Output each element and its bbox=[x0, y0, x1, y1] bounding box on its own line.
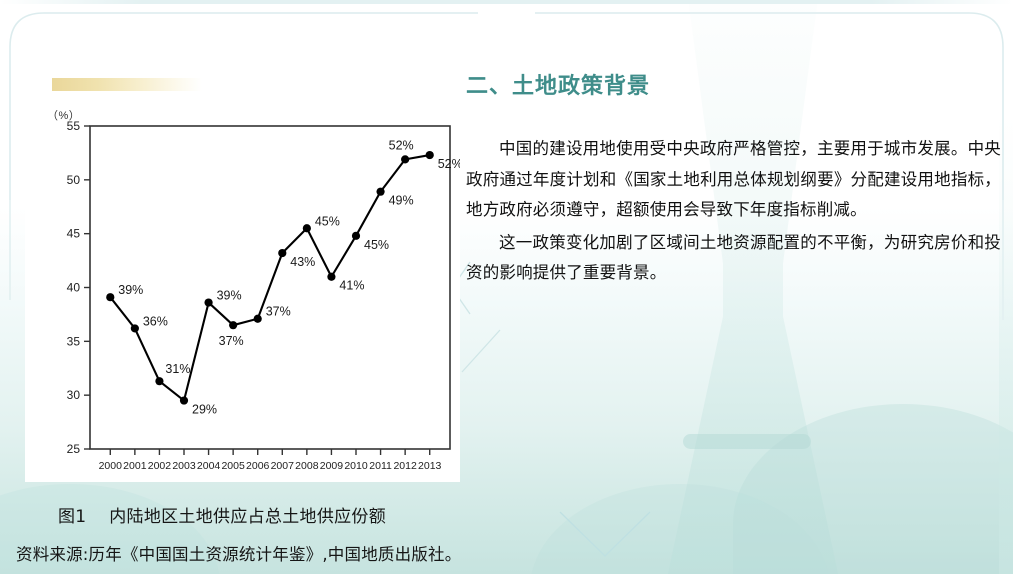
svg-text:45%: 45% bbox=[364, 238, 389, 252]
svg-text:40: 40 bbox=[67, 281, 81, 295]
svg-text:2011: 2011 bbox=[369, 460, 392, 472]
svg-text:37%: 37% bbox=[219, 334, 244, 348]
svg-text:43%: 43% bbox=[290, 255, 315, 269]
svg-text:35: 35 bbox=[67, 334, 81, 348]
svg-text:2002: 2002 bbox=[148, 460, 172, 472]
svg-text:2009: 2009 bbox=[320, 460, 344, 472]
body-paragraph-2: 这一政策变化加剧了区域间土地资源配置的不平衡，为研究房价和投资的影响提供了重要背… bbox=[466, 228, 1001, 289]
svg-text:41%: 41% bbox=[339, 279, 364, 293]
svg-text:45: 45 bbox=[67, 227, 81, 241]
svg-text:30: 30 bbox=[67, 388, 81, 402]
svg-text:2004: 2004 bbox=[197, 460, 221, 472]
source-caption: 资料来源:历年《中国国土资源统计年鉴》,中国地质出版社。 bbox=[16, 541, 461, 565]
svg-text:39%: 39% bbox=[118, 283, 143, 297]
svg-text:2012: 2012 bbox=[393, 460, 417, 472]
svg-text:31%: 31% bbox=[165, 362, 190, 376]
svg-text:39%: 39% bbox=[217, 289, 242, 303]
section-title: 二、土地政策背景 bbox=[466, 68, 1001, 100]
svg-text:55: 55 bbox=[67, 119, 81, 133]
body-paragraph-1: 中国的建设用地使用受中央政府严格管控，主要用于城市发展。中央政府通过年度计划和《… bbox=[466, 134, 1001, 226]
svg-text:2003: 2003 bbox=[172, 460, 196, 472]
svg-text:2006: 2006 bbox=[246, 460, 270, 472]
svg-text:2013: 2013 bbox=[418, 460, 442, 472]
svg-text:29%: 29% bbox=[192, 403, 217, 417]
svg-text:25: 25 bbox=[67, 442, 81, 456]
figure-chart-card: （%） 253035404550552000200120022003200420… bbox=[25, 32, 460, 482]
svg-text:2001: 2001 bbox=[123, 460, 147, 472]
text-column: 二、土地政策背景 中国的建设用地使用受中央政府严格管控，主要用于城市发展。中央政… bbox=[466, 68, 1001, 289]
slide-canvas: （%） 253035404550552000200120022003200420… bbox=[0, 0, 1013, 574]
background-hill-middle bbox=[530, 484, 830, 574]
top-accent-strip bbox=[0, 0, 1013, 4]
background-bar-shape bbox=[683, 434, 811, 449]
background-right-edge-wash bbox=[999, 0, 1013, 574]
chevron-down-icon bbox=[560, 512, 650, 556]
figure-caption: 图1 内陆地区土地供应占总土地供应份额 bbox=[58, 502, 386, 527]
svg-text:2005: 2005 bbox=[221, 460, 245, 472]
svg-text:45%: 45% bbox=[315, 214, 340, 228]
svg-text:50: 50 bbox=[67, 173, 81, 187]
svg-text:52%: 52% bbox=[389, 138, 414, 152]
svg-text:2010: 2010 bbox=[344, 460, 368, 472]
svg-text:2007: 2007 bbox=[271, 460, 295, 472]
svg-text:2000: 2000 bbox=[99, 460, 123, 472]
svg-text:36%: 36% bbox=[143, 314, 168, 328]
svg-text:2008: 2008 bbox=[295, 460, 319, 472]
svg-text:49%: 49% bbox=[389, 194, 414, 208]
chevron-diagonal-icon bbox=[462, 330, 500, 372]
svg-text:52%: 52% bbox=[438, 157, 460, 171]
line-chart-plot: 2530354045505520002001200220032004200520… bbox=[25, 32, 460, 482]
svg-text:37%: 37% bbox=[266, 305, 291, 319]
background-hill-right bbox=[733, 404, 1013, 574]
